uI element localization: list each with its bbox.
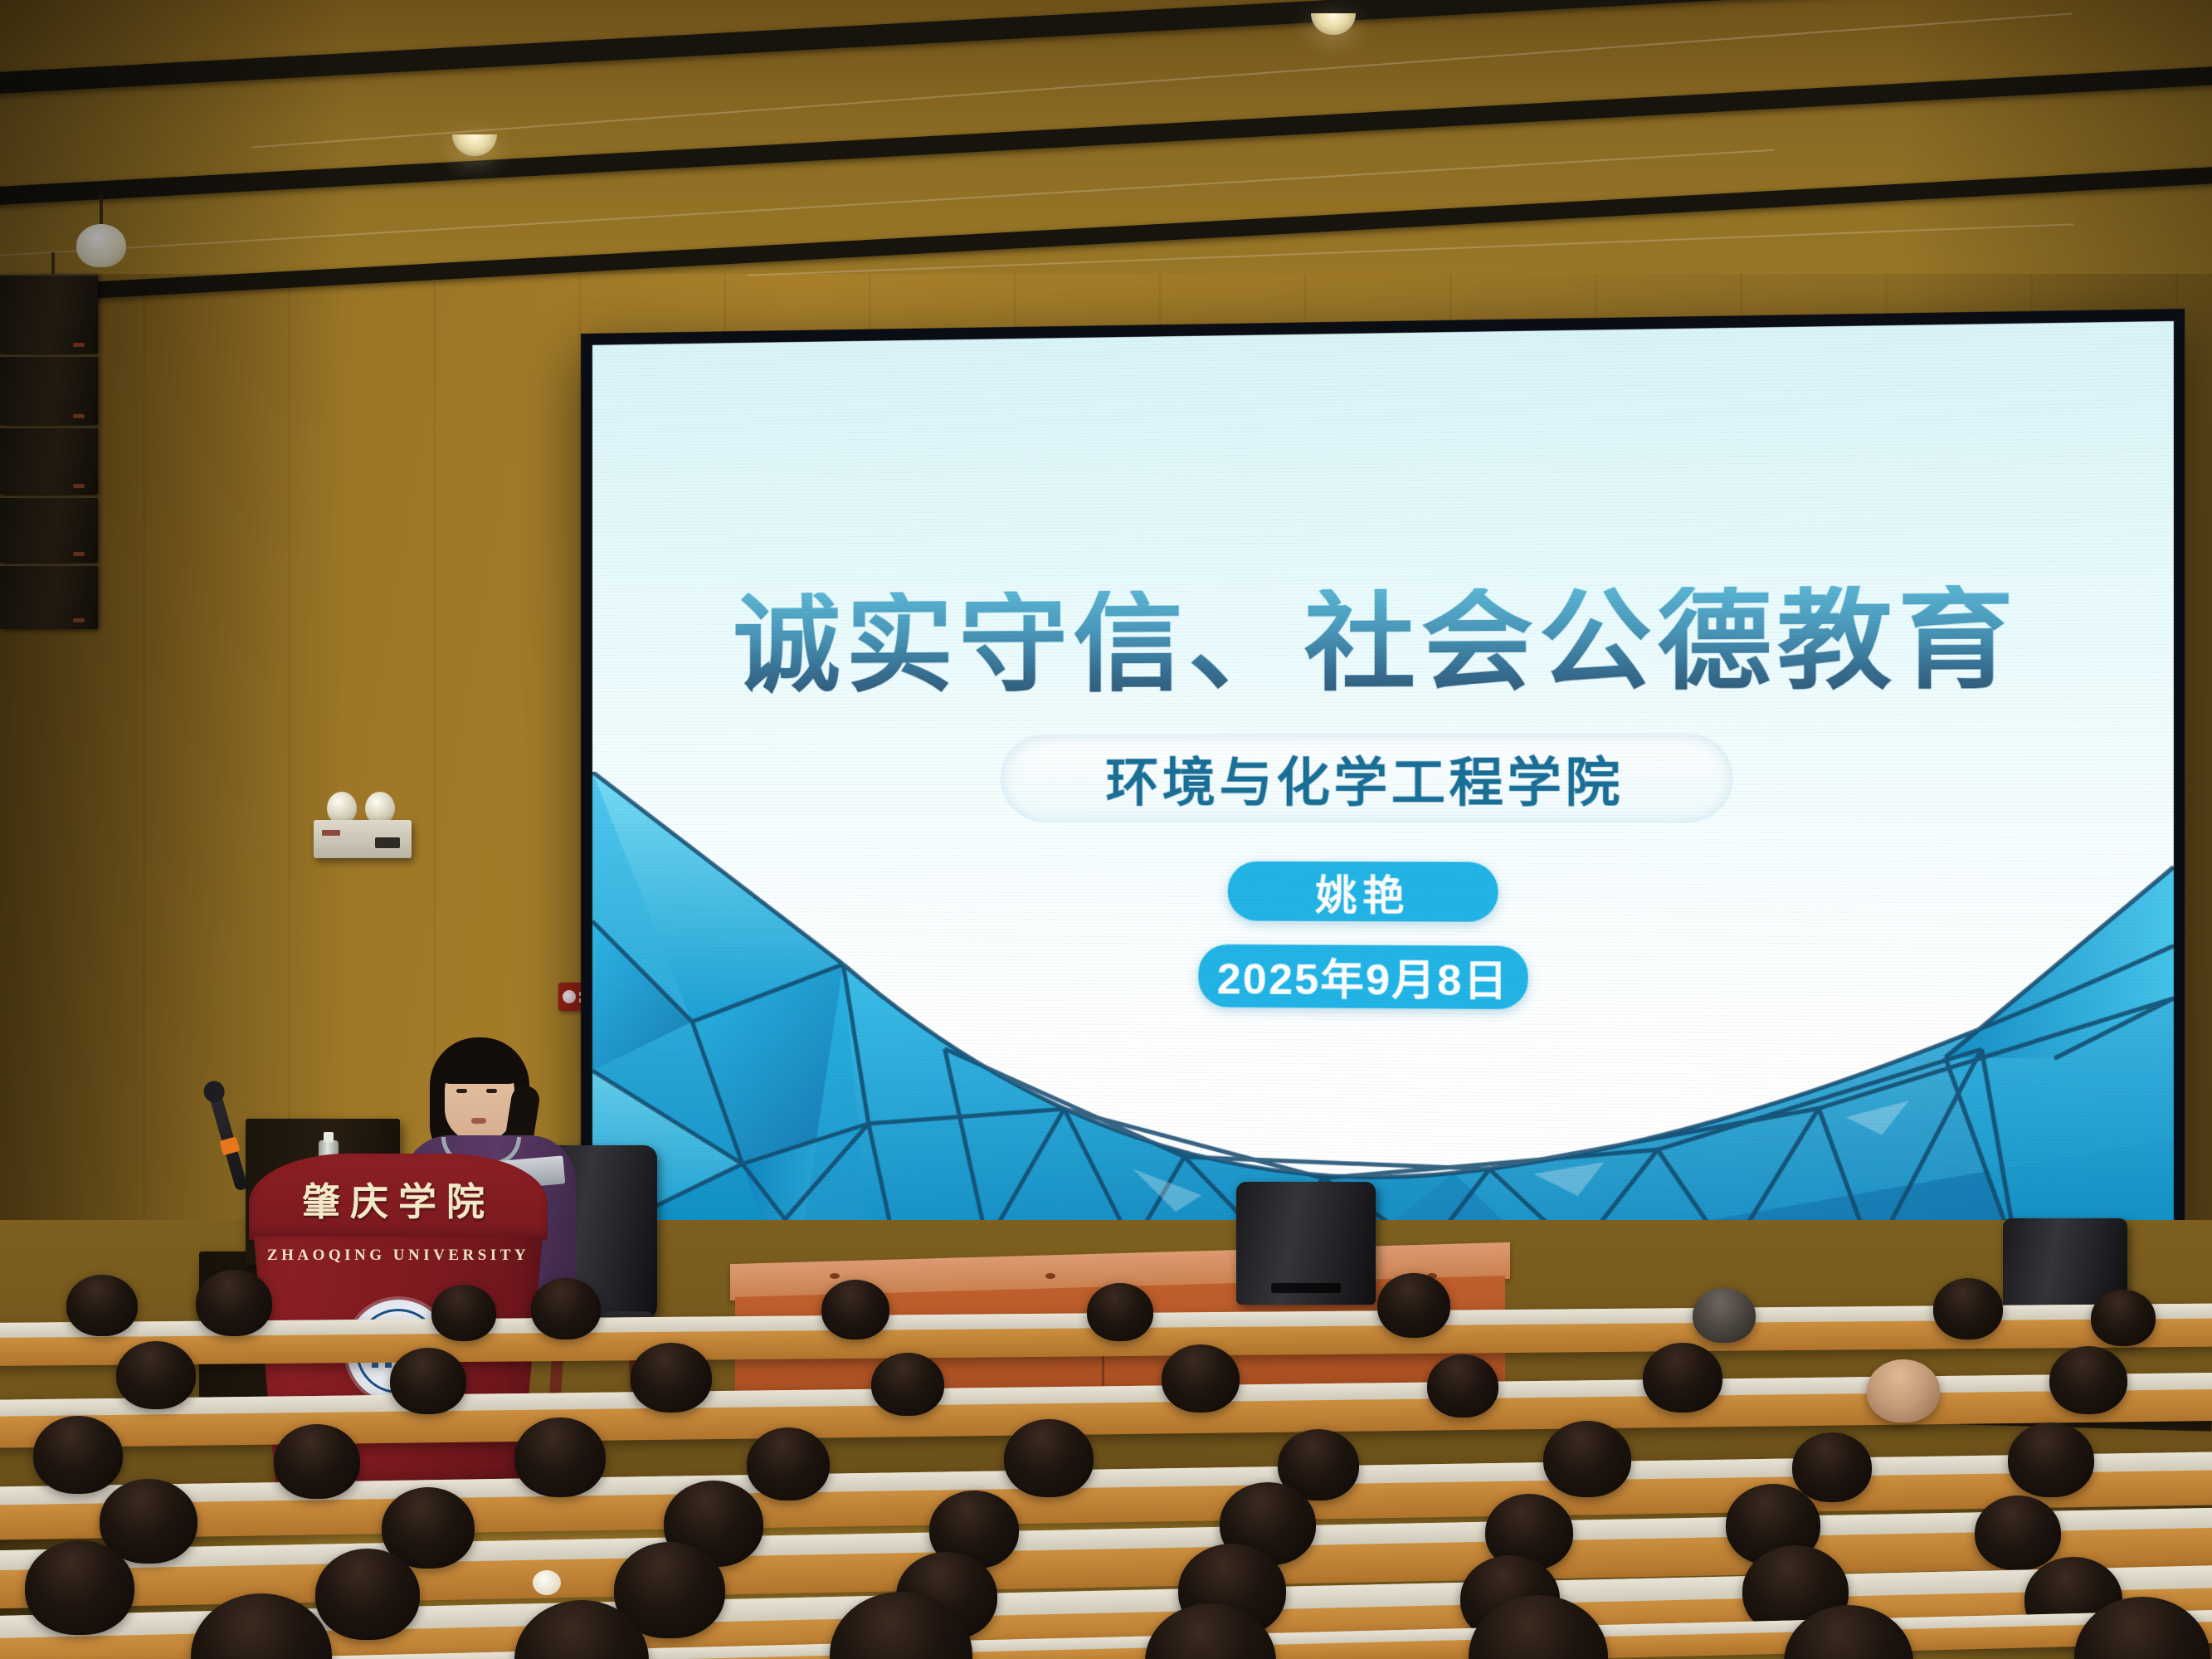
triangulated-glass-svg xyxy=(592,771,2174,1261)
audience-head xyxy=(2008,1422,2094,1497)
audience-head xyxy=(1693,1288,1756,1343)
audience-head xyxy=(821,1280,889,1339)
audience-head xyxy=(531,1278,601,1339)
auditorium-scene: 诚实守信、社会公德教育 环境与化学工程学院 姚艳 2025年9月8日 xyxy=(0,0,2212,1659)
presentation-slide[interactable]: 诚实守信、社会公德教育 环境与化学工程学院 姚艳 2025年9月8日 xyxy=(592,321,2174,1261)
audience-head xyxy=(1792,1432,1872,1502)
audience-head xyxy=(274,1424,360,1499)
audience-head xyxy=(33,1416,123,1494)
audience-head xyxy=(2049,1346,2127,1414)
speaker-module xyxy=(0,355,98,425)
line-array-speaker xyxy=(0,274,100,631)
audience-head xyxy=(631,1343,712,1413)
audience-head xyxy=(196,1270,272,1336)
emergency-light-icon xyxy=(314,798,412,858)
extinguisher-icon xyxy=(563,990,576,1003)
audience-head xyxy=(1867,1359,1940,1422)
audience-head xyxy=(1975,1496,2061,1570)
audience-head xyxy=(1162,1344,1240,1413)
audience-seating xyxy=(0,1261,2212,1659)
slide-title: 诚实守信、社会公德教育 xyxy=(592,583,2174,700)
ceiling-downlight-icon xyxy=(1311,13,1356,35)
ceiling-downlight-icon xyxy=(452,134,497,156)
audience-head xyxy=(514,1417,606,1497)
speaker-module xyxy=(0,274,98,354)
led-screen-frame: 诚实守信、社会公德教育 环境与化学工程学院 姚艳 2025年9月8日 xyxy=(581,309,2185,1271)
slide-date-badge: 2025年9月8日 xyxy=(1198,944,1527,1009)
audience-head xyxy=(1933,1278,2003,1339)
audience-head xyxy=(1543,1421,1631,1497)
slide-background-graphic xyxy=(592,771,2174,1261)
audience-head xyxy=(390,1348,466,1414)
audience-head xyxy=(25,1540,134,1635)
audience-head xyxy=(66,1275,138,1336)
slide-subtitle-pill: 环境与化学工程学院 xyxy=(1001,733,1733,822)
speaker-module xyxy=(0,427,98,495)
audience-head xyxy=(431,1285,496,1341)
podium-chinese-name: 肇庆学院 xyxy=(249,1172,548,1227)
audience-head xyxy=(871,1353,944,1416)
audience-head xyxy=(116,1341,196,1409)
audience-head xyxy=(747,1427,830,1500)
audience-head xyxy=(1004,1419,1094,1497)
slide-speaker-badge: 姚艳 xyxy=(1228,861,1498,922)
audience-head xyxy=(1087,1283,1153,1341)
audience-head xyxy=(1377,1273,1450,1338)
speaker-module xyxy=(0,496,98,563)
slide-subtitle: 环境与化学工程学院 xyxy=(1105,739,1623,817)
hair-scrunchie xyxy=(533,1570,561,1595)
speaker-module xyxy=(0,564,98,629)
audience-head xyxy=(315,1549,420,1640)
audience-head xyxy=(1427,1354,1498,1417)
audience-head xyxy=(1643,1343,1722,1413)
audience-head xyxy=(2091,1290,2156,1346)
